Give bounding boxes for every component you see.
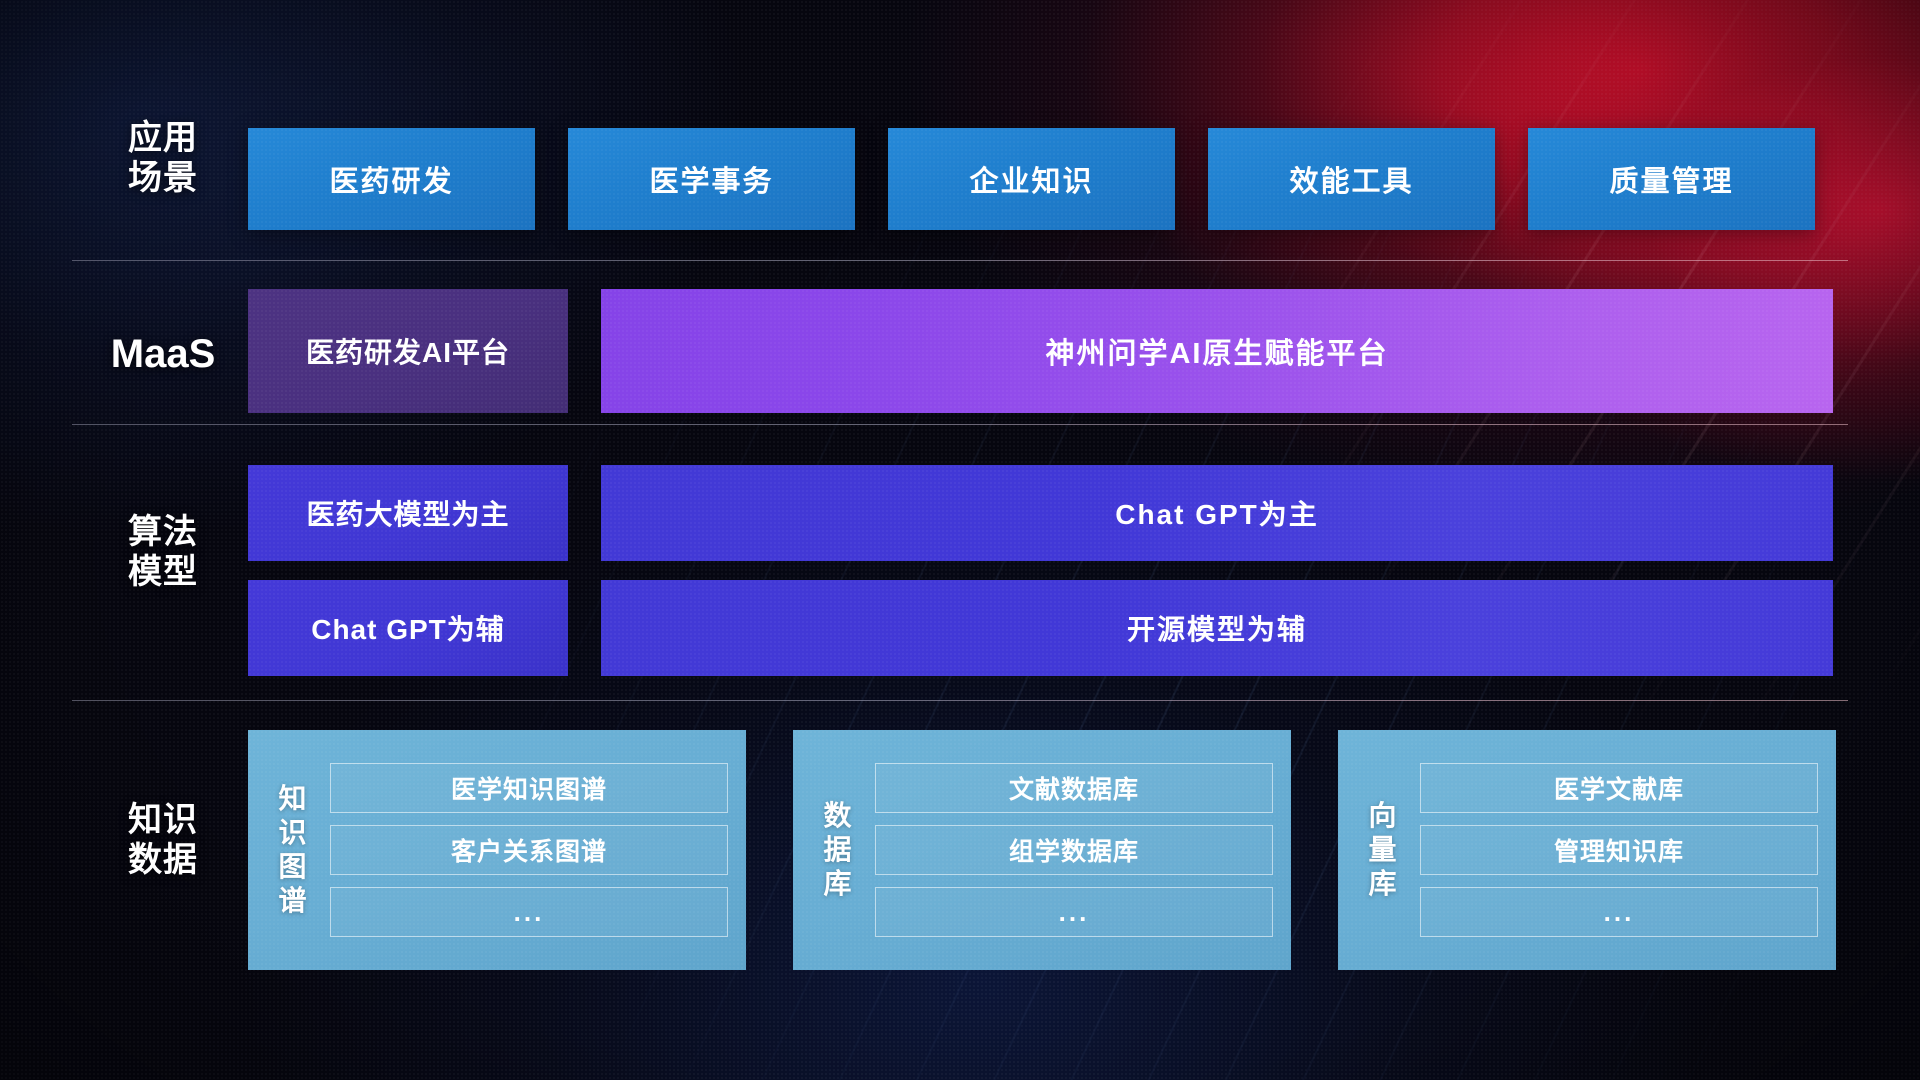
panel-label-char: 库	[815, 867, 861, 901]
knowledge-data-panels: 知 识 图 谱 医学知识图谱 客户关系图谱 ... 数 据 库	[248, 730, 1836, 970]
row-label-line: MaaS	[88, 331, 238, 378]
algorithm-model-line: Chat GPT为辅 开源模型为辅	[248, 580, 1833, 676]
panel-item-more[interactable]: ...	[330, 887, 728, 937]
panel-items: 文献数据库 组学数据库 ...	[875, 763, 1273, 937]
scenario-box[interactable]: 质量管理	[1528, 128, 1815, 230]
row-label-line: 知识	[88, 800, 238, 840]
panel-vertical-label: 知 识 图 谱	[270, 782, 316, 919]
panel-item-more[interactable]: ...	[875, 887, 1273, 937]
panel-label-char: 据	[815, 833, 861, 867]
scenario-box[interactable]: 医药研发	[248, 128, 535, 230]
panel-item-more[interactable]: ...	[1420, 887, 1818, 937]
row-divider	[72, 424, 1848, 425]
maas-platform-box[interactable]: 医药研发AI平台	[248, 289, 568, 413]
panel-label-char: 谱	[270, 884, 316, 918]
row-label-knowledge-data: 知识 数据	[88, 800, 238, 880]
row-label-line: 算法	[88, 512, 238, 552]
application-scenario-boxes: 医药研发 医学事务 企业知识 效能工具 质量管理	[248, 128, 1815, 230]
knowledge-graph-panel[interactable]: 知 识 图 谱 医学知识图谱 客户关系图谱 ...	[248, 730, 746, 970]
panel-item[interactable]: 组学数据库	[875, 825, 1273, 875]
row-label-line: 场景	[88, 158, 238, 198]
row-divider	[72, 260, 1848, 261]
scenario-box[interactable]: 医学事务	[568, 128, 855, 230]
panel-vertical-label: 数 据 库	[815, 799, 861, 901]
algorithm-secondary-right[interactable]: 开源模型为辅	[601, 580, 1833, 676]
scenario-box[interactable]: 企业知识	[888, 128, 1175, 230]
row-label-algorithm-models: 算法 模型	[88, 512, 238, 592]
panel-label-char: 知	[270, 782, 316, 816]
panel-items: 医学知识图谱 客户关系图谱 ...	[330, 763, 728, 937]
panel-vertical-label: 向 量 库	[1360, 799, 1406, 901]
slide-canvas: 应用 场景 医药研发 医学事务 企业知识 效能工具 质量管理 MaaS 医药研发…	[0, 0, 1920, 1080]
panel-item[interactable]: 管理知识库	[1420, 825, 1818, 875]
algorithm-secondary-left[interactable]: Chat GPT为辅	[248, 580, 568, 676]
row-label-line: 应用	[88, 118, 238, 158]
algorithm-primary-right[interactable]: Chat GPT为主	[601, 465, 1833, 561]
panel-item[interactable]: 医学知识图谱	[330, 763, 728, 813]
row-label-line: 数据	[88, 840, 238, 880]
panel-item[interactable]: 医学文献库	[1420, 763, 1818, 813]
maas-boxes: 医药研发AI平台 神州问学AI原生赋能平台	[248, 289, 1833, 413]
vector-database-panel[interactable]: 向 量 库 医学文献库 管理知识库 ...	[1338, 730, 1836, 970]
row-label-line: 模型	[88, 552, 238, 592]
scenario-box[interactable]: 效能工具	[1208, 128, 1495, 230]
panel-items: 医学文献库 管理知识库 ...	[1420, 763, 1818, 937]
maas-enablement-platform-bar[interactable]: 神州问学AI原生赋能平台	[601, 289, 1833, 413]
algorithm-model-line: 医药大模型为主 Chat GPT为主	[248, 465, 1833, 561]
database-panel[interactable]: 数 据 库 文献数据库 组学数据库 ...	[793, 730, 1291, 970]
architecture-diagram: 应用 场景 医药研发 医学事务 企业知识 效能工具 质量管理 MaaS 医药研发…	[0, 0, 1920, 1080]
panel-label-char: 量	[1360, 833, 1406, 867]
panel-label-char: 向	[1360, 799, 1406, 833]
panel-label-char: 图	[270, 850, 316, 884]
algorithm-primary-left[interactable]: 医药大模型为主	[248, 465, 568, 561]
panel-label-char: 识	[270, 816, 316, 850]
row-label-maas: MaaS	[88, 331, 238, 378]
row-divider	[72, 700, 1848, 701]
panel-item[interactable]: 文献数据库	[875, 763, 1273, 813]
panel-label-char: 库	[1360, 867, 1406, 901]
panel-label-char: 数	[815, 799, 861, 833]
panel-item[interactable]: 客户关系图谱	[330, 825, 728, 875]
row-label-application-scenarios: 应用 场景	[88, 118, 238, 198]
algorithm-model-boxes: 医药大模型为主 Chat GPT为主 Chat GPT为辅 开源模型为辅	[248, 465, 1833, 676]
